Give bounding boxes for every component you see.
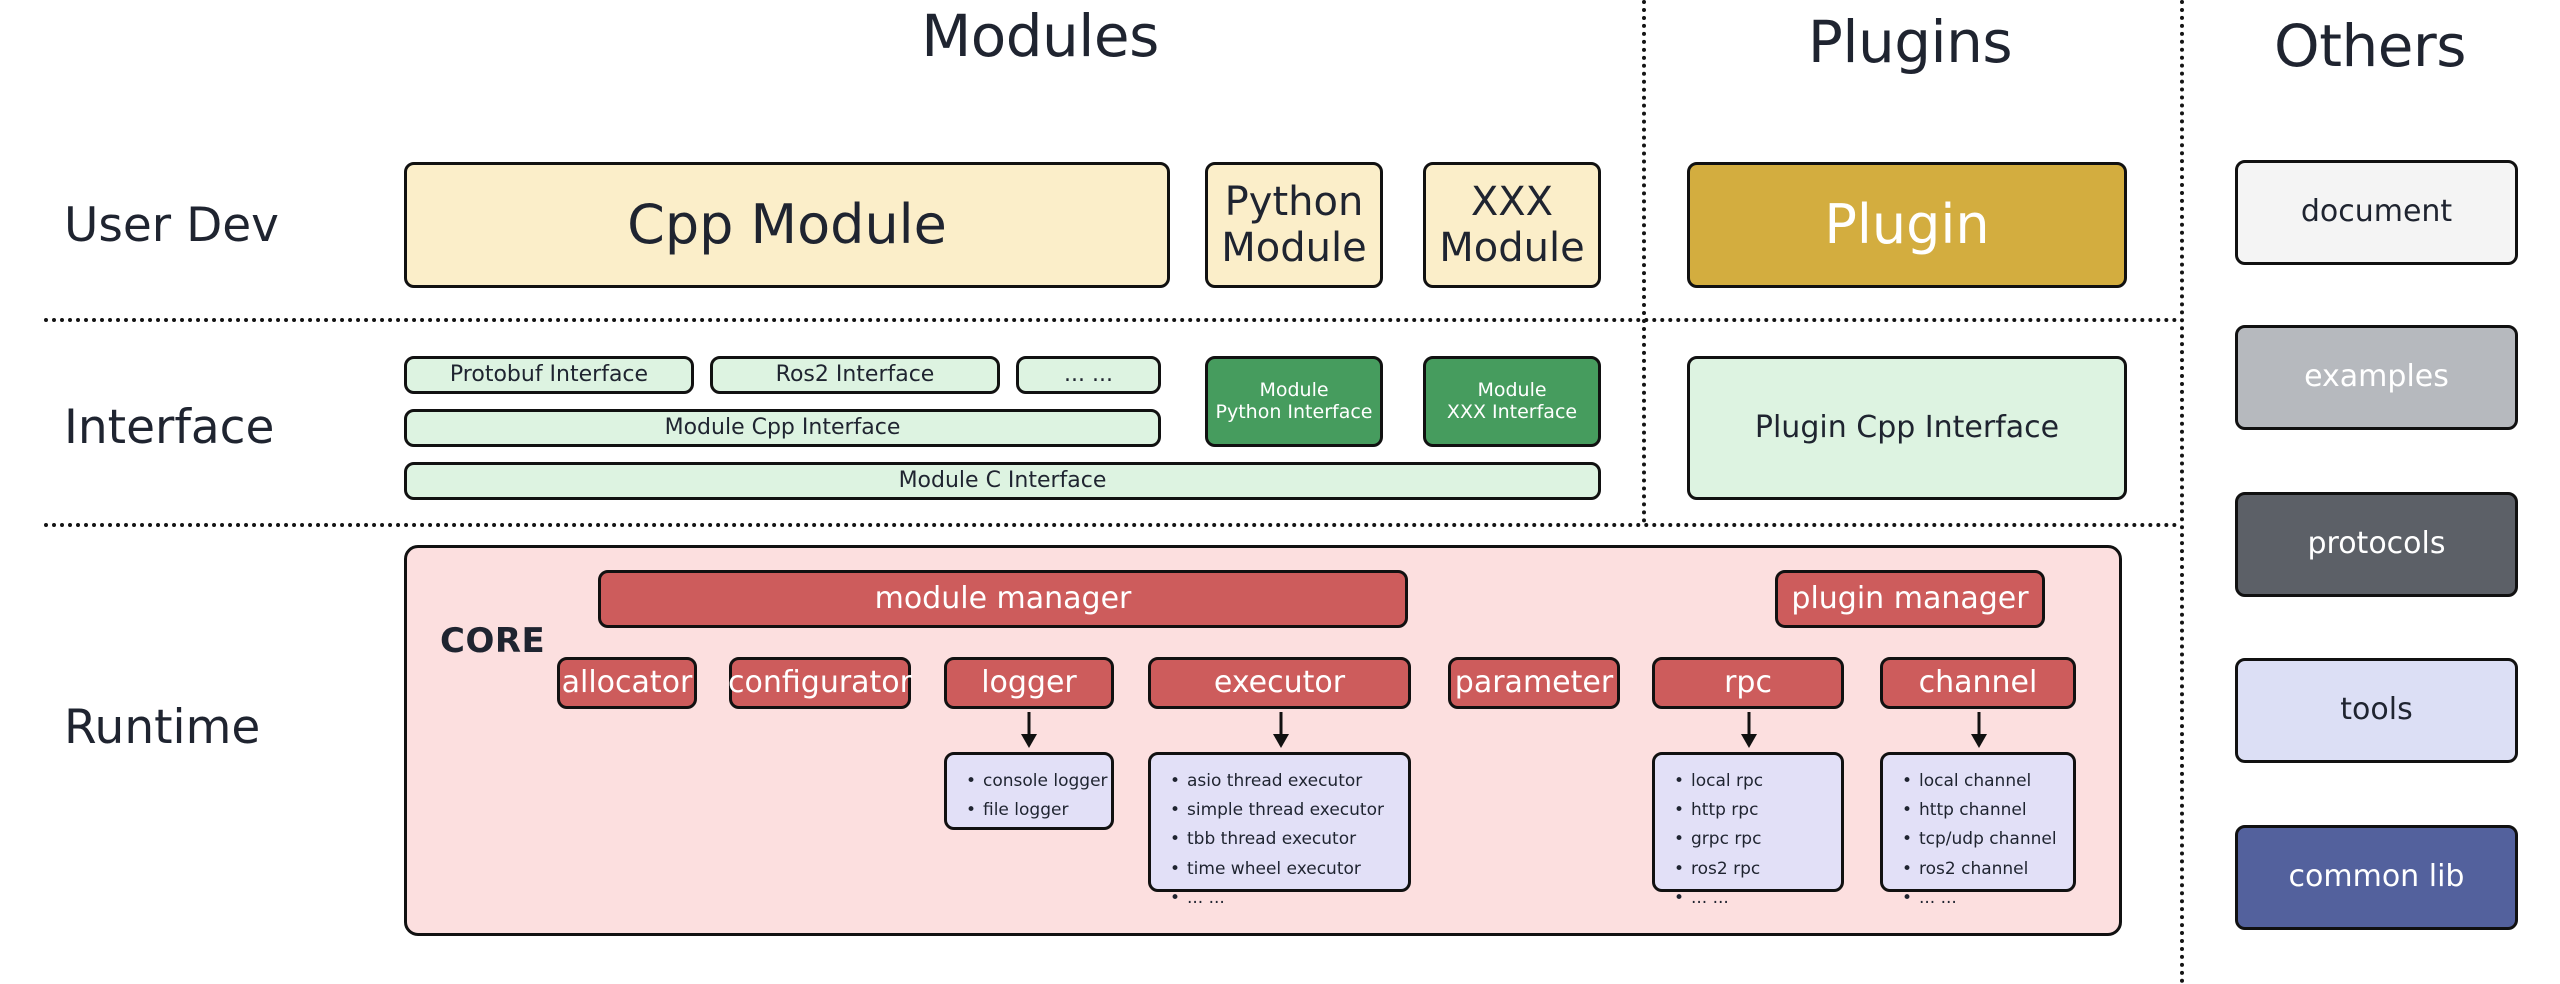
divider-modules-plugins xyxy=(1642,0,1646,523)
node-others-tools[interactable]: tools xyxy=(2235,658,2518,763)
node-protobuf-interface[interactable]: Protobuf Interface xyxy=(404,356,694,394)
detail-item: local channel xyxy=(1919,767,2063,796)
detail-item: grpc rpc xyxy=(1691,825,1831,854)
node-module-xxx-interface[interactable]: Module XXX Interface xyxy=(1423,356,1601,447)
node-channel[interactable]: channel xyxy=(1880,657,2076,709)
node-logger[interactable]: logger xyxy=(944,657,1114,709)
arrow-rpc-to-details xyxy=(1736,712,1762,748)
node-cpp-module[interactable]: Cpp Module xyxy=(404,162,1170,288)
node-others-document[interactable]: document xyxy=(2235,160,2518,265)
node-configurator[interactable]: configurator xyxy=(729,657,911,709)
node-interface-ellipsis[interactable]: ... ... xyxy=(1016,356,1161,394)
row-label-interface: Interface xyxy=(64,400,274,455)
detail-item: time wheel executor xyxy=(1187,855,1398,884)
node-plugin[interactable]: Plugin xyxy=(1687,162,2127,288)
row-label-runtime: Runtime xyxy=(64,700,260,755)
detail-item: asio thread executor xyxy=(1187,767,1398,796)
node-ros2-interface[interactable]: Ros2 Interface xyxy=(710,356,1000,394)
detail-item: local rpc xyxy=(1691,767,1831,796)
node-allocator[interactable]: allocator xyxy=(557,657,697,709)
detail-item: http channel xyxy=(1919,796,2063,825)
row-label-user-dev: User Dev xyxy=(64,198,279,253)
channel-detail-items: local channelhttp channeltcp/udp channel… xyxy=(1897,767,2063,913)
detail-item: tbb thread executor xyxy=(1187,825,1398,854)
divider-interface-runtime xyxy=(44,523,2179,527)
divider-userdev-interface xyxy=(44,318,2179,322)
detail-item: file logger xyxy=(983,796,1101,825)
divider-plugins-others xyxy=(2180,0,2184,984)
arrow-logger-to-details xyxy=(1016,712,1042,748)
arrow-executor-to-details xyxy=(1268,712,1294,748)
detail-item: ... ... xyxy=(1187,884,1398,913)
column-header-others: Others xyxy=(2185,12,2555,80)
detail-list-logger: console loggerfile logger xyxy=(944,752,1114,830)
node-module-c-interface[interactable]: Module C Interface xyxy=(404,462,1601,500)
detail-item: ... ... xyxy=(1691,884,1831,913)
node-others-common-lib[interactable]: common lib xyxy=(2235,825,2518,930)
column-header-plugins: Plugins xyxy=(1640,8,2180,76)
node-module-python-interface[interactable]: Module Python Interface xyxy=(1205,356,1383,447)
node-others-protocols[interactable]: protocols xyxy=(2235,492,2518,597)
node-plugin-manager[interactable]: plugin manager xyxy=(1775,570,2045,628)
node-module-cpp-interface[interactable]: Module Cpp Interface xyxy=(404,409,1161,447)
detail-list-rpc: local rpchttp rpcgrpc rpcros2 rpc... ... xyxy=(1652,752,1844,892)
detail-item: simple thread executor xyxy=(1187,796,1398,825)
node-executor[interactable]: executor xyxy=(1148,657,1411,709)
logger-detail-items: console loggerfile logger xyxy=(961,767,1101,825)
detail-list-channel: local channelhttp channeltcp/udp channel… xyxy=(1880,752,2076,892)
detail-item: ... ... xyxy=(1919,884,2063,913)
node-others-examples[interactable]: examples xyxy=(2235,325,2518,430)
architecture-diagram: Modules Plugins Others User Dev Interfac… xyxy=(0,0,2560,984)
detail-item: ros2 channel xyxy=(1919,855,2063,884)
node-rpc[interactable]: rpc xyxy=(1652,657,1844,709)
node-parameter[interactable]: parameter xyxy=(1448,657,1620,709)
node-module-manager[interactable]: module manager xyxy=(598,570,1408,628)
rpc-detail-items: local rpchttp rpcgrpc rpcros2 rpc... ... xyxy=(1669,767,1831,913)
node-xxx-module[interactable]: XXX Module xyxy=(1423,162,1601,288)
core-label: CORE xyxy=(440,621,545,661)
detail-item: console logger xyxy=(983,767,1101,796)
arrow-channel-to-details xyxy=(1966,712,1992,748)
executor-detail-items: asio thread executorsimple thread execut… xyxy=(1165,767,1398,913)
column-header-modules: Modules xyxy=(770,2,1310,70)
detail-item: ros2 rpc xyxy=(1691,855,1831,884)
detail-item: tcp/udp channel xyxy=(1919,825,2063,854)
node-python-module[interactable]: Python Module xyxy=(1205,162,1383,288)
node-plugin-cpp-interface[interactable]: Plugin Cpp Interface xyxy=(1687,356,2127,500)
detail-list-executor: asio thread executorsimple thread execut… xyxy=(1148,752,1411,892)
detail-item: http rpc xyxy=(1691,796,1831,825)
